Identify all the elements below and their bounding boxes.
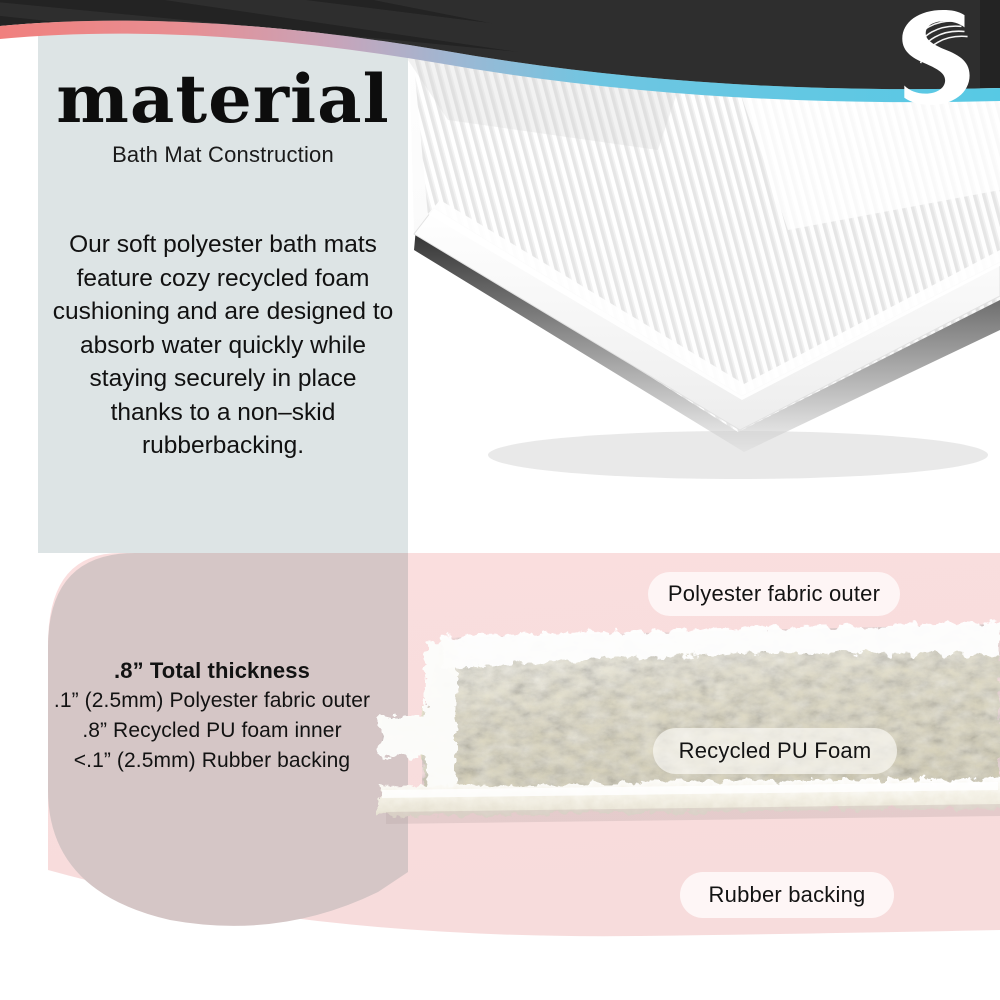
spec-line-foam: .8” Recycled PU foam inner: [16, 716, 408, 746]
callout-rubber-backing: Rubber backing: [680, 872, 894, 918]
thickness-spec-list: .8” Total thickness .1” (2.5mm) Polyeste…: [16, 656, 408, 776]
hero-bath-mat-illustration: [408, 0, 1000, 553]
page-subtitle: Bath Mat Construction: [38, 142, 408, 168]
spec-line-rubber: <.1” (2.5mm) Rubber backing: [16, 746, 408, 776]
spec-line-fabric: .1” (2.5mm) Polyester fabric outer: [16, 686, 408, 716]
intro-body-text: Our soft polyester bath mats feature coz…: [52, 228, 394, 463]
callout-polyester-fabric-outer: Polyester fabric outer: [648, 572, 900, 616]
left-text-panel: material Bath Mat Construction Our soft …: [38, 0, 408, 553]
spec-total-thickness: .8” Total thickness: [16, 656, 408, 686]
hero-bath-mat-photo: [408, 0, 1000, 553]
infographic-canvas: material Bath Mat Construction Our soft …: [0, 0, 1000, 1000]
page-title: material: [31, 66, 416, 132]
callout-recycled-pu-foam: Recycled PU Foam: [653, 728, 897, 774]
